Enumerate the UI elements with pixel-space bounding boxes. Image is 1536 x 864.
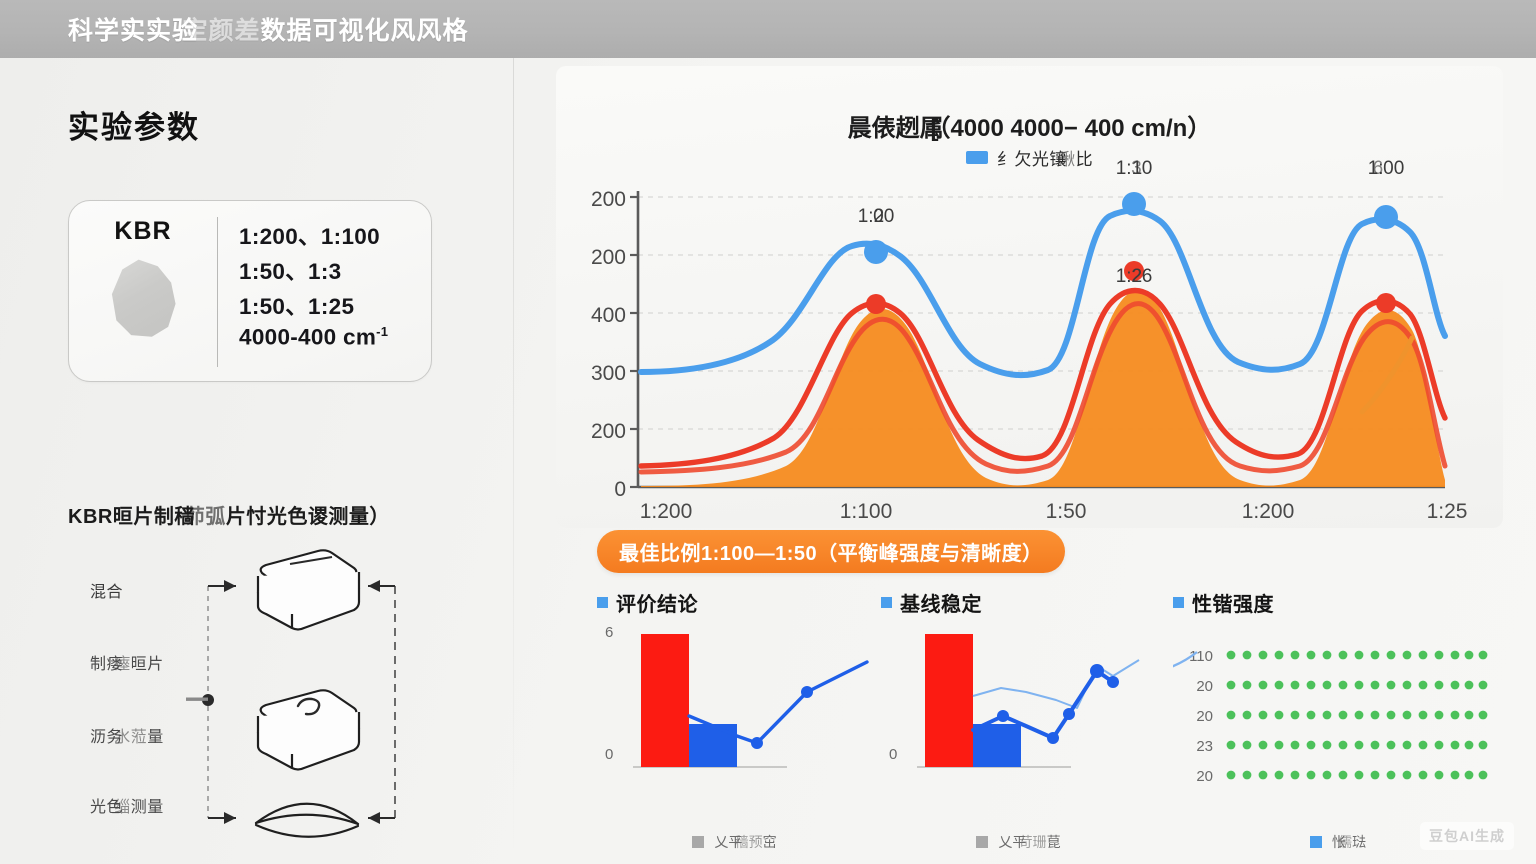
x-tick-label: 1:200 xyxy=(640,500,693,524)
red-data-point xyxy=(866,294,886,314)
blue-point-label: 1:130 xyxy=(1116,158,1153,180)
mini-chart-intensity: 性锴强度 110 20 20 23 20 xyxy=(1173,588,1503,858)
bar-blue xyxy=(973,724,1021,767)
bullet-square-icon xyxy=(881,597,892,608)
status-badge: 最佳比例1:100—1:50（平衡峰强度与清晰度） xyxy=(597,530,1065,573)
mini-legend-ghost: 儒 xyxy=(1338,834,1352,850)
red-point-label: 1:226 xyxy=(1116,266,1153,288)
flow-title-ghost: 茆弧 xyxy=(185,506,226,528)
x-tick-label: 1:25 xyxy=(1427,500,1468,524)
blue-data-point xyxy=(1122,192,1146,216)
mini-chart-graphics xyxy=(881,626,1156,786)
legend-square-icon xyxy=(1310,836,1322,848)
blue-point-label-tail: 00 xyxy=(1383,158,1404,179)
flow-title-tail: 片忖光色谡测量） xyxy=(226,506,390,528)
bullet-square-icon xyxy=(597,597,608,608)
flow-diagram: 混合 制瘘瘞晅片 沥务氷蒞量 光色缁测量 xyxy=(40,548,490,858)
blue-point-label-tail: 00 xyxy=(873,206,894,227)
red-point-label-ghost: 2 xyxy=(1131,266,1142,287)
mini-legend-text: 怅儒琺 xyxy=(1332,832,1366,852)
mini-legend-ghost: 穑预 xyxy=(735,834,763,850)
blue-point-label-ghost: 3 xyxy=(1131,158,1142,179)
mini-chart-title: 基线稳定 xyxy=(881,588,982,617)
blue-point-label-tail: 0 xyxy=(1142,158,1153,179)
bar-red xyxy=(925,634,973,767)
mini-chart-body: 6 0 xyxy=(597,626,872,816)
x-tick-label: 1:100 xyxy=(840,500,893,524)
mini-chart-legend: 乂平穑预窋 xyxy=(597,832,872,852)
mini-legend-ghost: 苛珊 xyxy=(1019,834,1047,850)
blue-data-point xyxy=(1374,205,1398,229)
mini-legend-tail: 琺 xyxy=(1352,834,1366,850)
flow-diagram-graphics xyxy=(40,548,490,858)
right-panel: 晨俵趔属[（4000 4000− 400 cm/n） 纟欠光镶瞅比 200 20… xyxy=(513,58,1536,864)
mini-chart-legend: 乂平苛珊菎 xyxy=(881,832,1156,852)
parameter-line: 1:50、1:25 xyxy=(239,289,431,321)
slide-root: 科学实实验宔颜差数据可视化风风格 实验参数 KBR 1:200、1:100 1:… xyxy=(0,0,1536,864)
watermark: 豆包AI生成 xyxy=(1420,822,1514,850)
parameter-units-superscript: -1 xyxy=(376,324,388,339)
blue-data-point xyxy=(864,240,888,264)
left-panel: 实验参数 KBR 1:200、1:100 1:50、1:3 1:50、1:25 … xyxy=(0,58,513,864)
blue-point-label-ghost: 6 xyxy=(1373,158,1384,179)
mini-chart-body: 110 20 20 23 20 xyxy=(1173,626,1503,816)
header-title-ghost: 宔颜差 xyxy=(183,17,261,45)
parameter-values: 1:200、1:100 1:50、1:3 1:50、1:25 4000-400 … xyxy=(217,201,431,381)
rock-icon xyxy=(106,258,180,340)
mini-chart-body: 0 xyxy=(881,626,1156,816)
parameter-line: 1:200、1:100 xyxy=(239,219,431,251)
section-title: 实验参数 xyxy=(68,102,200,147)
header-title-tail: 数据可视化风风格 xyxy=(261,17,469,45)
x-tick-label: 1:50 xyxy=(1046,500,1087,524)
bar-red xyxy=(641,634,689,767)
header-bar: 科学实实验宔颜差数据可视化风风格 xyxy=(0,0,1536,58)
mini-chart-baseline: 基线稳定 0 乂平苛珊菎 xyxy=(881,588,1156,858)
parameter-card-divider xyxy=(217,217,218,367)
mini-legend-text: 乂平苛珊菎 xyxy=(998,832,1060,852)
blue-point-label: 1:600 xyxy=(1368,158,1405,180)
red-point-label-tail: 6 xyxy=(1142,266,1153,287)
heatmap-dots xyxy=(1173,626,1503,796)
parameter-line: 1:50、1:3 xyxy=(239,254,431,286)
mini-chart-title-text: 评价结论 xyxy=(616,588,698,617)
mini-chart-title: 性锴强度 xyxy=(1173,588,1274,617)
mini-chart-graphics xyxy=(597,626,872,786)
legend-square-icon xyxy=(692,836,704,848)
flow-diagram-title: KBR晅片制穑茆弧片忖光色谡测量） xyxy=(68,500,390,529)
mini-chart-evaluation: 评价结论 6 0 乂平穑预窋 xyxy=(597,588,872,858)
parameter-line-units: 4000-400 cm-1 xyxy=(239,324,431,351)
main-chart-card: 晨俵趔属[（4000 4000− 400 cm/n） 纟欠光镶瞅比 200 20… xyxy=(556,66,1503,528)
flow-title-main: KBR晅片制穑 xyxy=(68,506,195,528)
x-tick-label: 1:200 xyxy=(1242,500,1295,524)
parameter-card: KBR 1:200、1:100 1:50、1:3 1:50、1:25 4000-… xyxy=(68,200,432,382)
mini-legend-tail: 窋 xyxy=(763,834,777,850)
parameter-card-icon-side: KBR xyxy=(69,201,217,381)
legend-square-icon xyxy=(976,836,988,848)
header-title-main: 科学实实验 xyxy=(68,17,198,45)
kbr-label: KBR xyxy=(114,217,171,246)
mini-chart-title-text: 基线稳定 xyxy=(900,588,982,617)
mini-chart-title: 评价结论 xyxy=(597,588,698,617)
blue-point-label: 1:200 xyxy=(858,206,895,228)
bullet-square-icon xyxy=(1173,597,1184,608)
page-title: 科学实实验宔颜差数据可视化风风格 xyxy=(68,11,469,47)
parameter-line-units-text: 4000-400 cm xyxy=(239,325,376,350)
bar-blue xyxy=(689,724,737,767)
red-data-point xyxy=(1376,293,1396,313)
mini-legend-tail: 菎 xyxy=(1047,834,1061,850)
mini-legend-text: 乂平穑预窋 xyxy=(714,832,776,852)
chart-plot xyxy=(556,66,1503,528)
mini-chart-title-text: 性锴强度 xyxy=(1192,588,1274,617)
